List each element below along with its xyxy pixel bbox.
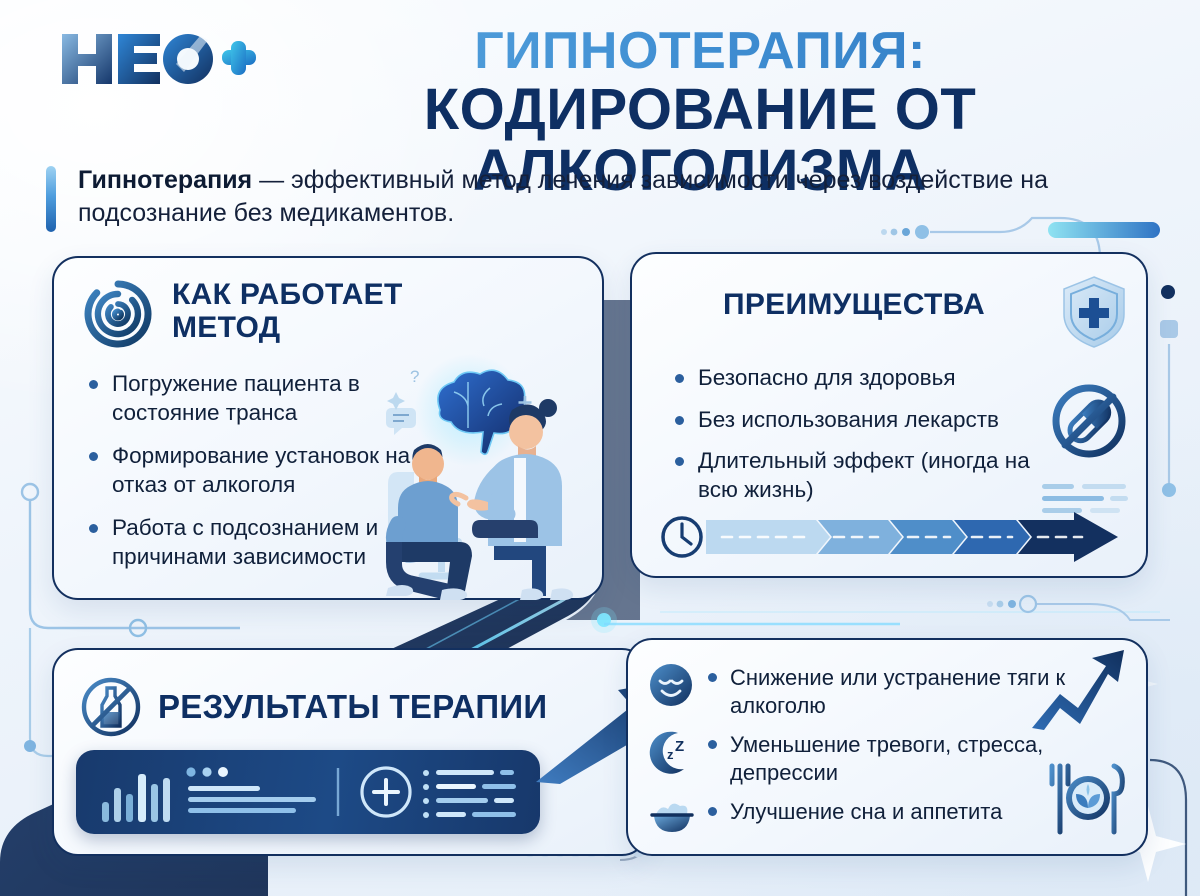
svg-text:?: ? — [410, 367, 419, 386]
title-line-1: ГИПНОТЕРАПИЯ: — [240, 24, 1160, 78]
panel-lines — [188, 786, 316, 813]
subtitle-accent-bar — [46, 166, 56, 232]
card-how-method-works[interactable]: КАК РАБОТАЕТ МЕТОД Погружение пациента в… — [52, 256, 604, 600]
card-therapy-effects[interactable]: Снижение или устранение тяги к алкоголю … — [626, 638, 1148, 856]
card-results-title: РЕЗУЛЬТАТЫ ТЕРАПИИ — [158, 689, 547, 725]
shield-plus-icon — [1060, 274, 1128, 350]
list-item-label: Снижение или устранение тяги к алкоголю — [708, 660, 1066, 719]
svg-text:Z: Z — [675, 738, 684, 755]
panel-list — [423, 770, 516, 818]
healthy-meal-icon — [1044, 762, 1130, 836]
list-item-label: Уменьшение тревоги, стресса, депрессии — [708, 727, 1066, 786]
list-item: Без использования лекарств — [674, 406, 1074, 435]
therapy-session-illustration: ? — [362, 352, 608, 598]
list-item: z Z Уменьшение тревоги, стресса, депресс… — [646, 727, 1066, 786]
plus-circle-icon — [362, 768, 410, 816]
list-item: Снижение или устранение тяги к алкоголю — [646, 660, 1066, 719]
card-method-header: КАК РАБОТАЕТ МЕТОД — [82, 278, 472, 350]
food-bowl-icon — [646, 794, 696, 844]
mini-bar-chart — [102, 774, 170, 822]
hypnosis-spiral-icon — [82, 278, 154, 350]
card-benefits-bullet-list: Безопасно для здоровья Без использования… — [674, 364, 1074, 517]
card-therapy-results[interactable]: РЕЗУЛЬТАТЫ ТЕРАПИИ — [52, 648, 648, 856]
subtitle-lead: Гипнотерапия — [78, 166, 252, 194]
list-item: Безопасно для здоровья — [674, 364, 1074, 393]
effects-list: Снижение или устранение тяги к алкоголю … — [646, 660, 1066, 852]
list-item: Длительный эффект (иногда на всю жизнь) — [674, 447, 1074, 504]
card-results-header: РЕЗУЛЬТАТЫ ТЕРАПИИ — [80, 676, 547, 738]
list-item-label: Улучшение сна и аппетита — [708, 794, 1002, 826]
list-item: Улучшение сна и аппетита — [646, 794, 1066, 844]
card-benefits[interactable]: ПРЕИМУЩЕСТВА — [630, 252, 1148, 578]
svg-text:z: z — [667, 747, 674, 762]
calm-face-icon — [646, 660, 696, 710]
dashboard-graphics — [76, 750, 540, 834]
brand-logo — [58, 28, 258, 90]
card-method-title: КАК РАБОТАЕТ МЕТОД — [172, 278, 472, 344]
time-progression-arrow — [660, 512, 1122, 562]
growth-arrow-icon — [1030, 646, 1126, 730]
panel-dots — [186, 767, 228, 777]
moon-sleep-icon: z Z — [646, 727, 696, 777]
results-dashboard-panel — [76, 750, 540, 834]
subtitle: Гипнотерапия — эффективный метод лечения… — [78, 164, 1118, 230]
card-benefits-title: ПРЕИМУЩЕСТВА — [723, 288, 985, 321]
no-alcohol-icon — [80, 676, 142, 738]
